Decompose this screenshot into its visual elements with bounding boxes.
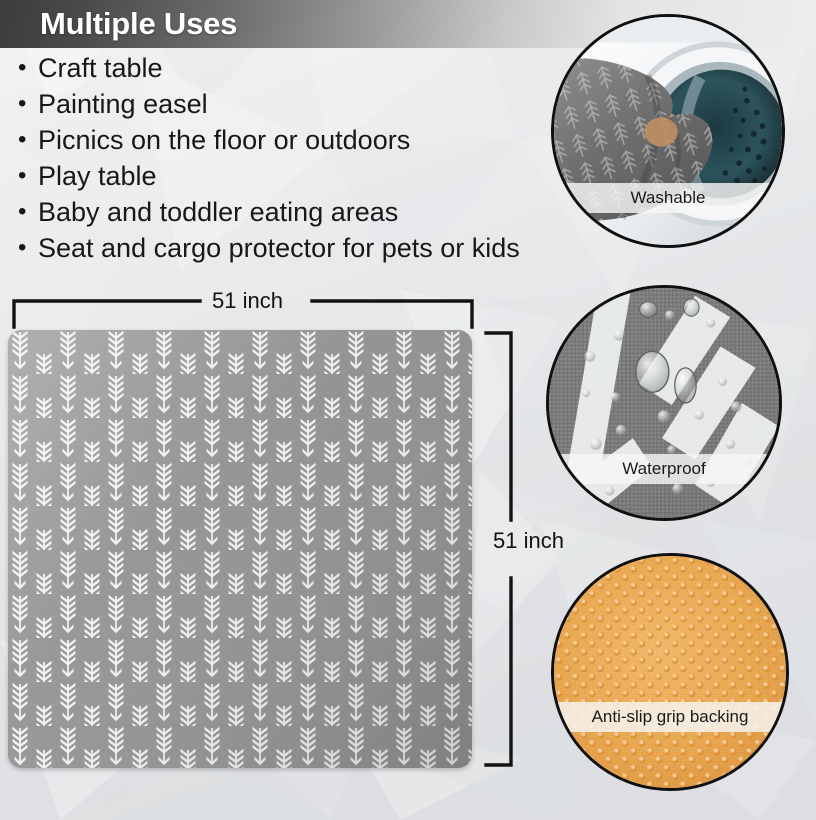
feature-circle-washable: Washable [551,14,785,248]
feature-circle-waterproof: Waterproof [546,285,782,521]
height-bracket [486,333,511,765]
feature-caption: Washable [554,183,782,213]
feature-caption: Waterproof [549,454,779,484]
feature-circle-antislip: Anti-slip grip backing [551,553,789,791]
product-infographic: Multiple Uses • Craft table • Painting e… [0,0,816,820]
grip-backing-photo [554,556,786,788]
width-bracket [14,301,472,327]
feature-caption: Anti-slip grip backing [554,702,786,732]
